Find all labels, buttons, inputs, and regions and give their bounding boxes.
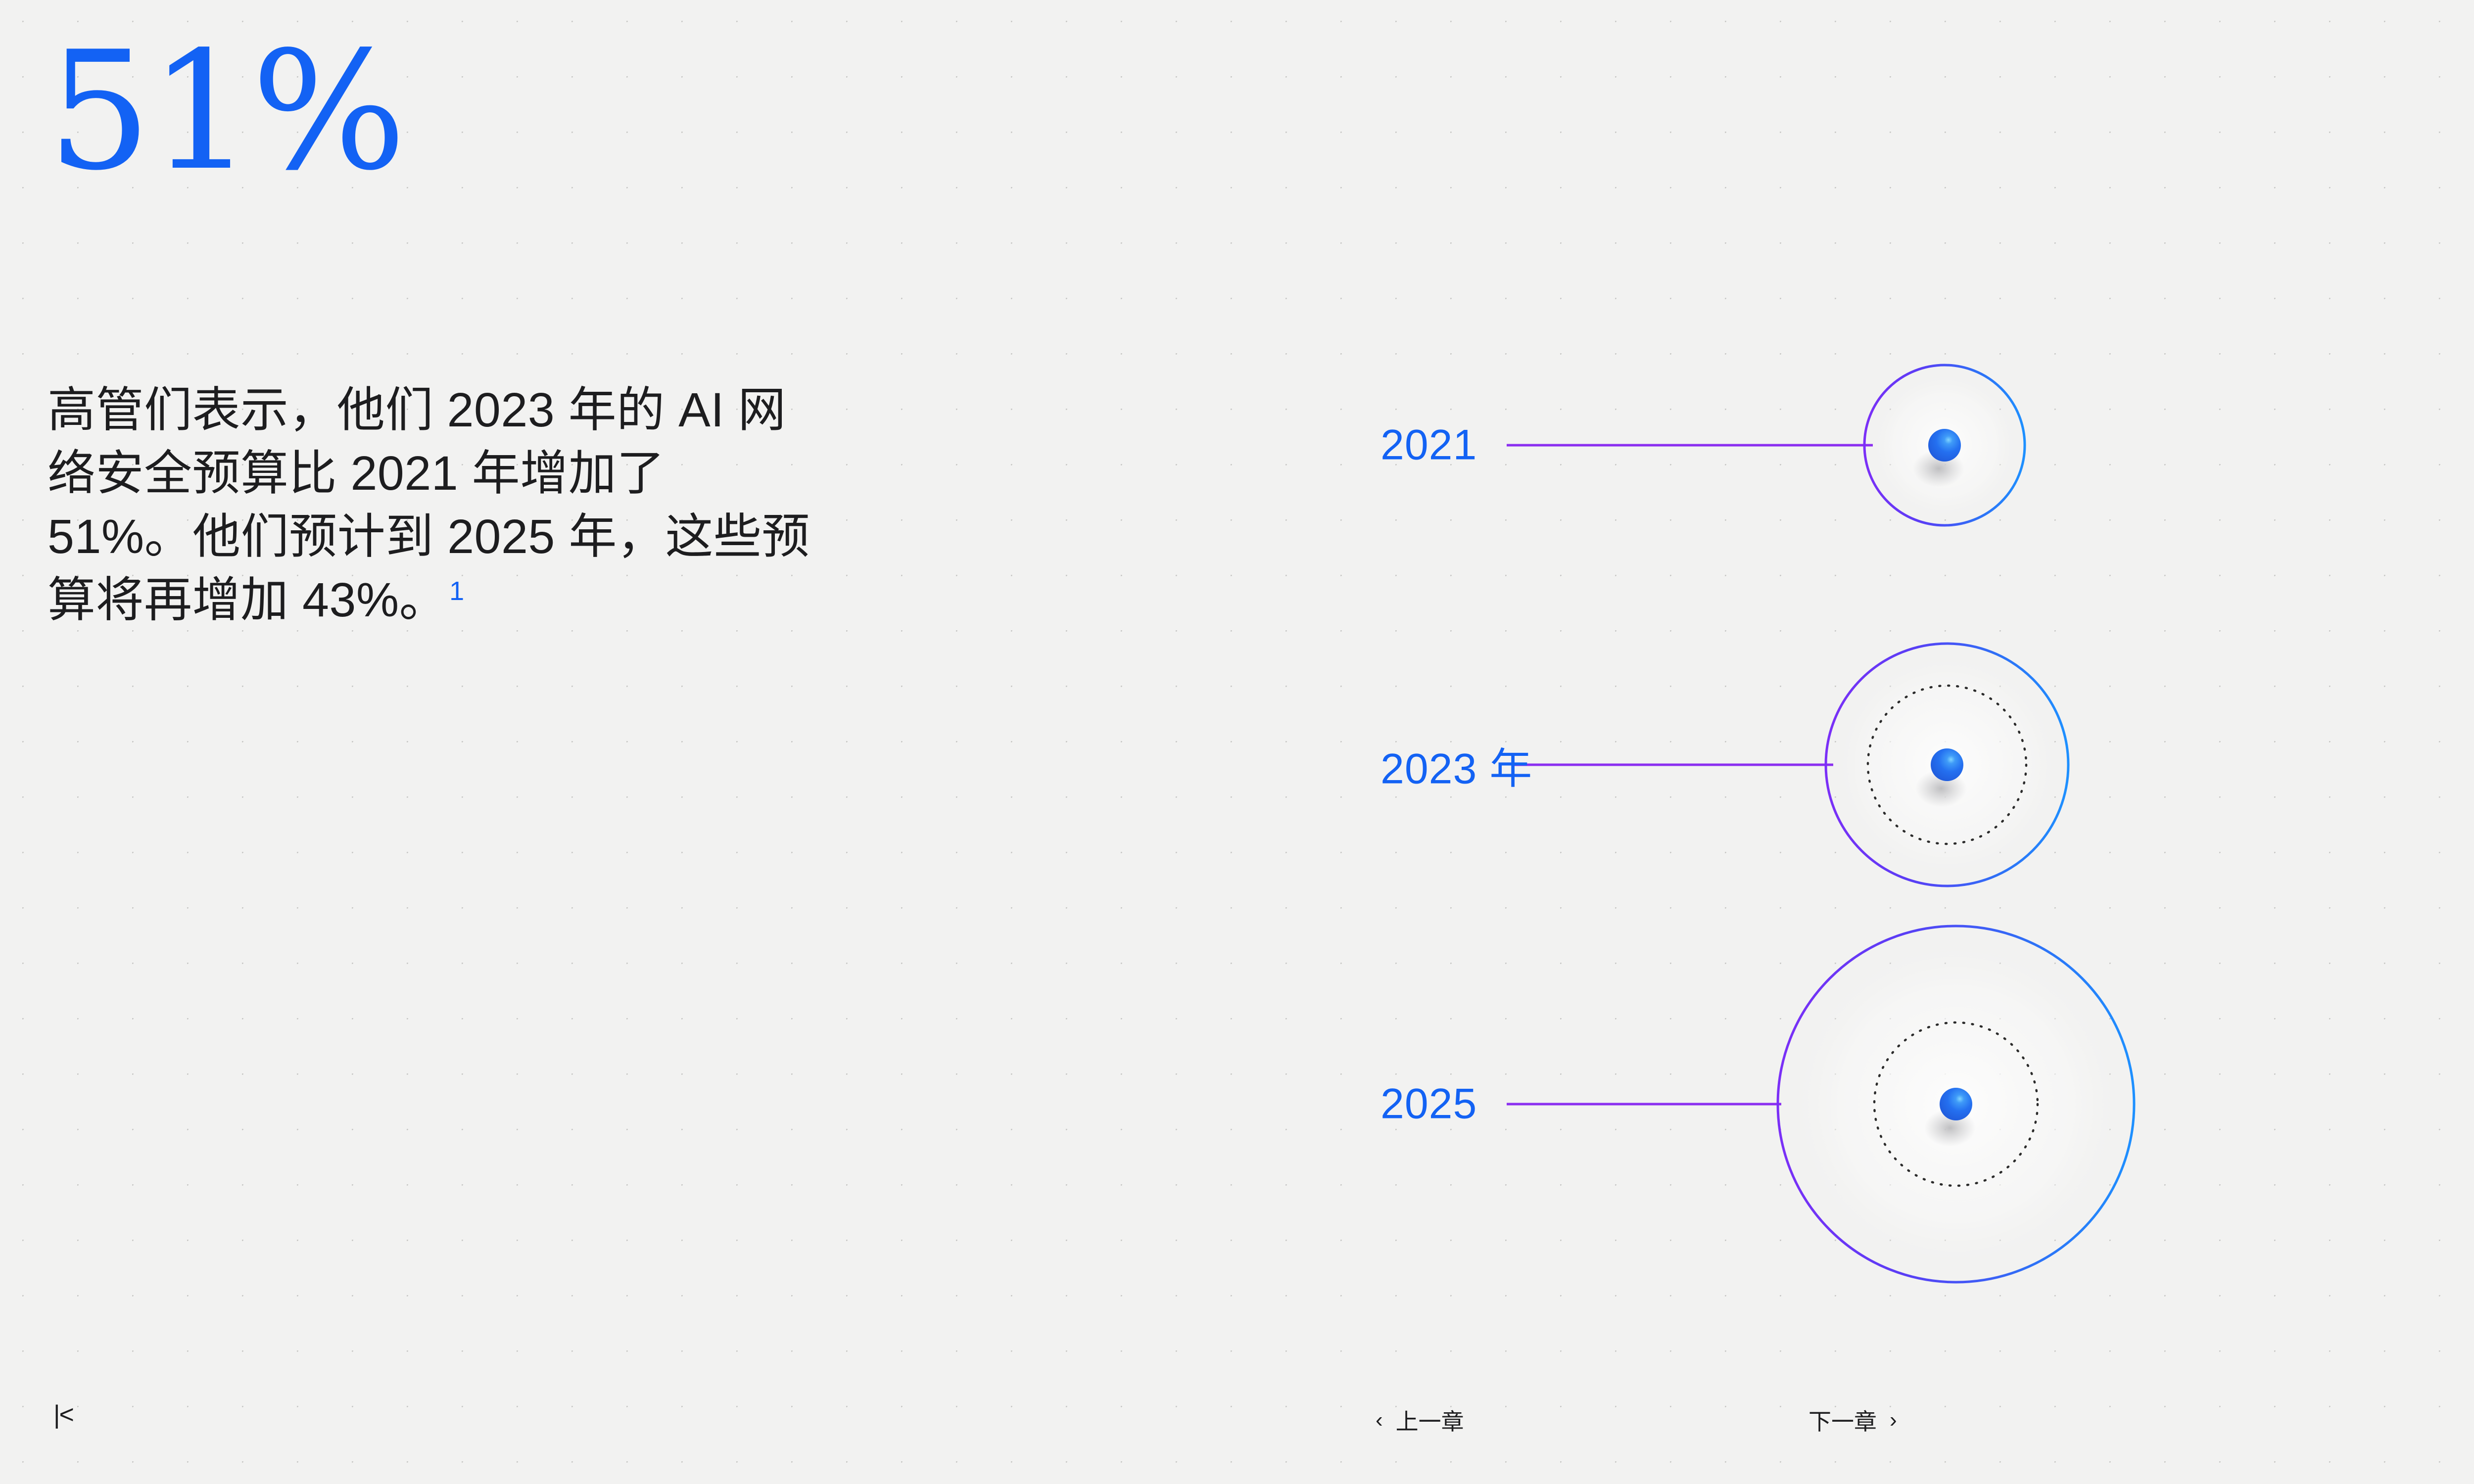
outer-ring-2025 [1778,926,2134,1282]
halo-2023 [1833,651,2061,879]
outer-ring-2021 [1864,365,2025,525]
next-chapter-button[interactable]: 下一章 › [1808,1404,1897,1437]
year-label-2025: 2025 [1380,1080,1477,1129]
footnote-marker[interactable]: 1 [447,576,465,606]
chevron-right-icon: › [1890,1409,1897,1431]
dotted-inner-ring-2023 [1868,686,2026,844]
outer-ring-2023 [1826,644,2068,886]
diagram-svg [0,0,2474,1484]
halo-2025 [1788,936,2124,1272]
sphere-2021 [1928,429,1961,462]
halo-2021 [1870,371,2019,519]
next-chapter-label: 下一章 [1808,1404,1877,1437]
page-title: 51% [48,30,889,193]
footer-nav-bar: |< ‹ 上一章 下一章 › 8 [0,1395,2474,1454]
slide-canvas: 51% 高管们表示，他们 2023 年的 AI 网络安全预算比 2021 年增加… [0,0,2474,1484]
chevron-left-icon: ‹ [1376,1409,1383,1431]
budget-growth-diagram: 2021 2023 年 2025 [0,0,2474,1484]
left-content-column: 51% 高管们表示，他们 2023 年的 AI 网络安全预算比 2021 年增加… [48,30,889,193]
sphere-shadow-2021 [1913,450,1964,487]
sphere-2025 [1940,1088,1972,1120]
year-label-2023: 2023 年 [1380,734,1532,796]
diagram-node-2021 [1507,365,2025,525]
sphere-2023 [1931,748,1963,781]
prev-chapter-button[interactable]: ‹ 上一章 [1376,1404,1464,1437]
year-label-2021: 2021 [1380,421,1477,470]
sphere-shadow-2025 [1924,1109,1976,1147]
first-page-icon[interactable]: |< [53,1402,73,1428]
sphere-shadow-2023 [1915,770,1967,807]
diagram-node-2025 [1507,926,2134,1282]
dotted-inner-ring-2025 [1874,1022,2038,1186]
body-paragraph-text: 高管们表示，他们 2023 年的 AI 网络安全预算比 2021 年增加了 51… [48,383,810,627]
diagram-node-2023 [1514,644,2068,886]
prev-chapter-label: 上一章 [1396,1404,1464,1437]
body-paragraph: 高管们表示，他们 2023 年的 AI 网络安全预算比 2021 年增加了 51… [48,378,819,632]
